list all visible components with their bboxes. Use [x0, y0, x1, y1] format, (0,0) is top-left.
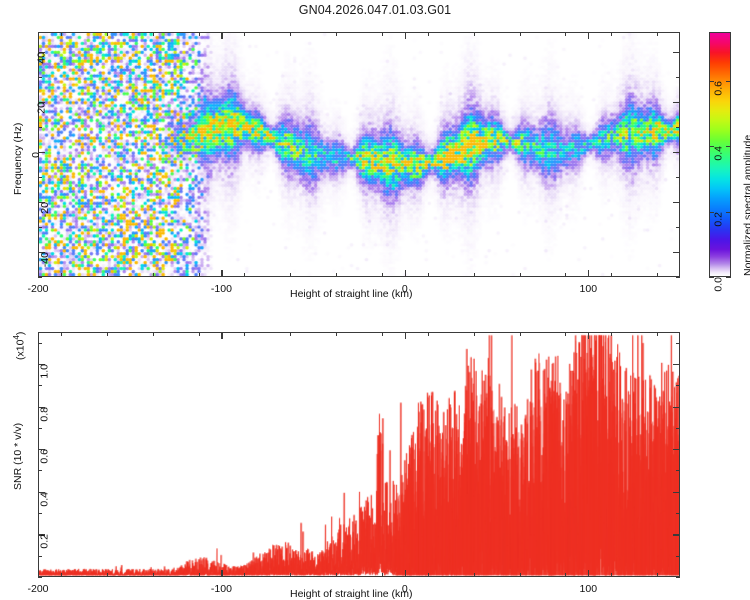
tick-mark: [221, 32, 222, 39]
colorbar-tick: [726, 81, 731, 82]
minor-tick: [290, 273, 291, 277]
minor-tick: [382, 32, 383, 36]
y-tick-label: 0.8: [39, 407, 51, 422]
x-tick-label: -100: [211, 283, 232, 295]
minor-tick: [428, 332, 429, 336]
snr-y-axis-title: SNR (10 * v/v): [12, 423, 24, 490]
minor-tick: [153, 273, 154, 277]
spectrogram-plot-area: [38, 32, 680, 277]
tick-mark: [673, 252, 680, 253]
x-tick-label: -200: [27, 283, 48, 295]
minor-tick: [520, 332, 521, 336]
minor-tick: [38, 513, 42, 514]
tick-mark: [588, 32, 589, 39]
tick-mark: [673, 449, 680, 450]
minor-tick: [676, 513, 680, 514]
minor-tick: [474, 32, 475, 36]
minor-tick: [520, 32, 521, 36]
snr-line-series: [39, 333, 679, 576]
minor-tick: [244, 32, 245, 36]
minor-tick: [382, 332, 383, 336]
minor-tick: [428, 273, 429, 277]
minor-tick: [38, 343, 42, 344]
y-tick-label: -40: [39, 252, 51, 267]
tick-mark: [673, 202, 680, 203]
minor-tick: [520, 573, 521, 577]
minor-tick: [657, 573, 658, 577]
minor-tick: [657, 332, 658, 336]
y-tick-label: 1.0: [39, 364, 51, 379]
minor-tick: [565, 573, 566, 577]
minor-tick: [107, 32, 108, 36]
minor-tick: [565, 273, 566, 277]
minor-tick: [676, 277, 680, 278]
tick-mark: [405, 32, 406, 39]
spectrogram-y-axis-title: Frequency (Hz): [12, 123, 24, 195]
minor-tick: [153, 573, 154, 577]
minor-tick: [657, 32, 658, 36]
minor-tick: [38, 277, 42, 278]
minor-tick: [520, 273, 521, 277]
snr-panel: -200-1000100 0.20.40.60.81.0 Height of s…: [0, 300, 700, 600]
minor-tick: [199, 273, 200, 277]
tick-mark: [221, 570, 222, 577]
minor-tick: [428, 573, 429, 577]
minor-tick: [676, 428, 680, 429]
snr-y-axis-multiplier: (x104): [12, 332, 27, 360]
minor-tick: [676, 343, 680, 344]
minor-tick: [153, 332, 154, 336]
y-tick-label: 0.4: [39, 492, 51, 507]
y-tick-label: 0: [30, 152, 42, 158]
colorbar-tick-label: 0.6: [713, 81, 725, 96]
minor-tick: [244, 332, 245, 336]
tick-mark: [221, 270, 222, 277]
tick-mark: [673, 102, 680, 103]
tick-mark: [38, 270, 39, 277]
tick-mark: [38, 570, 39, 577]
minor-tick: [676, 577, 680, 578]
figure-root: GN04.2026.047.01.03.G01 -200-1000100 -40…: [0, 0, 750, 600]
minor-tick: [61, 573, 62, 577]
minor-tick: [244, 273, 245, 277]
minor-tick: [38, 177, 42, 178]
colorbar-tick-label: 0.2: [713, 212, 725, 227]
x-tick-label: 100: [580, 283, 598, 295]
tick-mark: [38, 332, 39, 339]
minor-tick: [611, 332, 612, 336]
spectrogram-x-axis-title: Height of straight line (km): [290, 288, 413, 300]
y-tick-label: 0.2: [39, 534, 51, 549]
spectrogram-panel: -200-1000100 -40-2002040 Height of strai…: [0, 0, 700, 300]
minor-tick: [61, 332, 62, 336]
minor-tick: [611, 573, 612, 577]
minor-tick: [611, 273, 612, 277]
minor-tick: [611, 32, 612, 36]
snr-plot-area: [38, 332, 680, 577]
minor-tick: [676, 227, 680, 228]
x-tick-label: -100: [211, 583, 232, 595]
y-tick-label: -20: [39, 202, 51, 217]
tick-mark: [588, 570, 589, 577]
minor-tick: [61, 273, 62, 277]
minor-tick: [38, 577, 42, 578]
minor-tick: [153, 32, 154, 36]
tick-mark: [673, 407, 680, 408]
minor-tick: [290, 573, 291, 577]
tick-mark: [405, 270, 406, 277]
snr-mult-close: ): [15, 332, 27, 336]
x-tick-label: 100: [580, 583, 598, 595]
minor-tick: [199, 332, 200, 336]
minor-tick: [336, 32, 337, 36]
minor-tick: [38, 556, 42, 557]
minor-tick: [107, 332, 108, 336]
tick-mark: [588, 332, 589, 339]
snr-mult-open: (x10: [15, 340, 27, 360]
minor-tick: [290, 32, 291, 36]
minor-tick: [38, 428, 42, 429]
y-tick-label: 40: [36, 52, 48, 64]
tick-mark: [673, 364, 680, 365]
minor-tick: [382, 573, 383, 577]
minor-tick: [199, 573, 200, 577]
minor-tick: [244, 573, 245, 577]
minor-tick: [38, 77, 42, 78]
tick-mark: [38, 32, 39, 39]
x-tick-label: -200: [27, 583, 48, 595]
colorbar-tick: [726, 146, 731, 147]
minor-tick: [657, 273, 658, 277]
snr-x-axis-title: Height of straight line (km): [290, 588, 413, 600]
tick-mark: [673, 52, 680, 53]
minor-tick: [61, 32, 62, 36]
colorbar-tick-label: 0.0: [713, 277, 725, 292]
tick-mark: [405, 570, 406, 577]
minor-tick: [38, 385, 42, 386]
minor-tick: [336, 273, 337, 277]
tick-mark: [673, 492, 680, 493]
minor-tick: [38, 127, 42, 128]
y-tick-label: 0.6: [39, 449, 51, 464]
minor-tick: [676, 77, 680, 78]
minor-tick: [676, 556, 680, 557]
minor-tick: [107, 573, 108, 577]
minor-tick: [290, 332, 291, 336]
minor-tick: [676, 127, 680, 128]
snr-mult-exp: 4: [12, 335, 21, 339]
minor-tick: [336, 573, 337, 577]
minor-tick: [38, 227, 42, 228]
tick-mark: [673, 534, 680, 535]
minor-tick: [38, 470, 42, 471]
tick-mark: [405, 332, 406, 339]
minor-tick: [474, 273, 475, 277]
minor-tick: [565, 32, 566, 36]
minor-tick: [676, 177, 680, 178]
colorbar-tick-label: 0.4: [713, 146, 725, 161]
minor-tick: [382, 273, 383, 277]
colorbar-tick: [726, 277, 731, 278]
spectrogram-image: [39, 33, 679, 276]
minor-tick: [107, 273, 108, 277]
y-tick-label: 20: [36, 102, 48, 114]
minor-tick: [565, 332, 566, 336]
tick-mark: [673, 152, 680, 153]
minor-tick: [676, 470, 680, 471]
minor-tick: [676, 385, 680, 386]
colorbar-tick: [726, 212, 731, 213]
minor-tick: [336, 332, 337, 336]
tick-mark: [588, 270, 589, 277]
tick-mark: [221, 332, 222, 339]
minor-tick: [199, 32, 200, 36]
minor-tick: [474, 573, 475, 577]
minor-tick: [474, 332, 475, 336]
minor-tick: [428, 32, 429, 36]
colorbar-label: Normalized spectral amplitude: [742, 135, 750, 276]
